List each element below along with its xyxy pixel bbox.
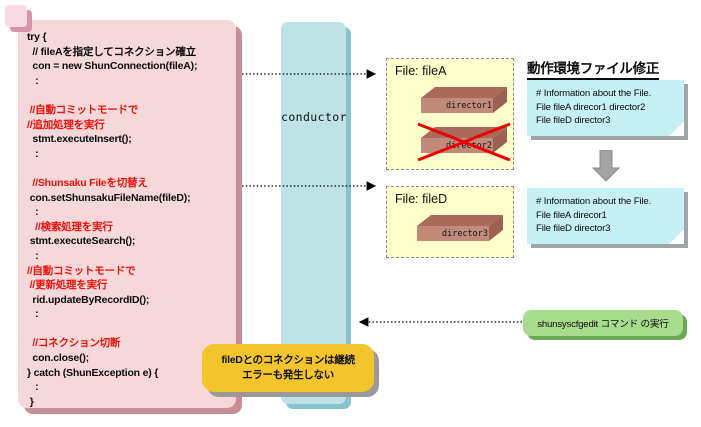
code-line: //コネクション切断 <box>27 336 232 351</box>
code-line <box>27 88 232 103</box>
code-line: rid.updateByRecordID(); <box>27 293 232 308</box>
director-block-1-label: director1 <box>435 101 503 111</box>
annotation-callout: fileDとのコネクションは継続 エラーも発生しない <box>202 344 374 392</box>
page-fold-icon <box>669 229 684 244</box>
decorative-corner-chip <box>5 5 27 27</box>
code-line: //Shunsaku Fileを切替え <box>27 176 232 191</box>
right-section-heading: 動作環境ファイル修正 <box>527 57 659 80</box>
code-line: //自動コミットモードで <box>27 264 232 279</box>
code-line: //検索処理を実行 <box>27 220 232 235</box>
file-box-filed: File: fileD director3 <box>386 186 514 258</box>
code-line: try { <box>27 30 232 45</box>
code-line: : <box>27 307 232 322</box>
code-line: : <box>27 205 232 220</box>
command-pill-label: shunsyscfgedit コマンド の実行 <box>523 316 683 330</box>
code-line: stmt.executeInsert(); <box>27 132 232 147</box>
file-box-filea-title: File: fileA <box>395 64 446 78</box>
code-line: : <box>27 249 232 264</box>
diagram-canvas: try { // fileAを指定してコネクション確立 con = new Sh… <box>0 0 701 427</box>
code-line: // fileAを指定してコネクション確立 <box>27 45 232 60</box>
config-note-after-text: # Information about the File. File fileA… <box>527 188 684 244</box>
file-box-filea: File: fileA director1 director2 <box>386 58 514 170</box>
code-line <box>27 161 232 176</box>
config-note-after: # Information about the File. File fileA… <box>527 188 684 244</box>
code-line: : <box>27 74 232 89</box>
config-note-before: # Information about the File. File fileA… <box>527 80 684 136</box>
code-line: con = new ShunConnection(fileA); <box>27 59 232 74</box>
page-fold-icon <box>669 121 684 136</box>
director-block-3: director3 <box>417 215 503 245</box>
down-arrow-icon <box>592 150 620 182</box>
director-block-3-label: director3 <box>431 229 499 239</box>
code-line: //更新処理を実行 <box>27 278 232 293</box>
code-line: //追加処理を実行 <box>27 118 232 133</box>
code-line: stmt.executeSearch(); <box>27 234 232 249</box>
director-block-2-label: director2 <box>435 141 503 151</box>
director-block-1: director1 <box>421 87 507 117</box>
command-pill: shunsyscfgedit コマンド の実行 <box>523 310 683 336</box>
code-line: : <box>27 147 232 162</box>
code-line: } <box>27 395 232 410</box>
annotation-callout-text: fileDとのコネクションは継続 エラーも発生しない <box>202 353 374 383</box>
conductor-label: conductor <box>281 110 346 124</box>
code-line <box>27 322 232 337</box>
file-box-filed-title: File: fileD <box>395 192 447 206</box>
code-line: //自動コミットモードで <box>27 103 232 118</box>
code-line: con.setShunsakuFileName(fileD); <box>27 191 232 206</box>
director-block-2: director2 <box>421 127 507 157</box>
config-note-before-text: # Information about the File. File fileA… <box>527 80 684 136</box>
